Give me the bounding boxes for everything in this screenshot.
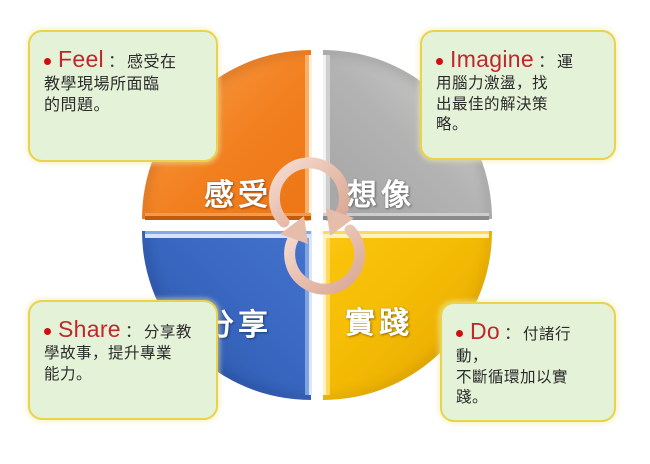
quadrant-label-feel: 感受 [204,170,272,214]
callout-imagine[interactable]: Imagine：運 用腦力激盪，找 出最佳的解決策 略。 [420,30,616,160]
curved-arrow-counterclockwise-icon [280,216,360,289]
callout-imagine-colon: ： [534,52,557,71]
callout-share[interactable]: Share：分享教 學故事，提升專業 能力。 [28,300,218,420]
curved-arrow-clockwise-icon [274,163,354,236]
callout-feel-text-2: 教學現場所面臨 [44,74,202,95]
callout-imagine-text-2: 用腦力激盪，找 [436,74,600,94]
callout-share-line-1: Share：分享教 [44,314,202,344]
callout-share-keyword: Share [58,316,121,342]
callout-feel-colon: ： [104,52,127,71]
callout-do-line-1: Do：付諸行動， [456,316,600,368]
callout-feel-text-3: 的問題。 [44,95,202,116]
callout-share-text-1: 分享教 [144,324,192,341]
callout-feel-text-1: 感受在 [127,54,177,71]
callout-imagine-keyword: Imagine [450,46,534,72]
callout-do-text-3: 踐。 [456,388,600,408]
bullet-icon [436,58,443,65]
callout-do-keyword: Do [470,318,500,344]
callout-do[interactable]: Do：付諸行動， 不斷循環加以實 踐。 [440,302,616,422]
quadrant-label-imagine: 想像 [347,170,415,214]
bullet-icon [44,328,51,335]
callout-imagine-text-3: 出最佳的解決策 [436,95,600,115]
callout-imagine-text-1: 運 [557,54,574,71]
callout-share-colon: ： [121,322,144,341]
callout-feel[interactable]: Feel：感受在 教學現場所面臨 的問題。 [28,30,218,162]
callout-do-colon: ： [500,324,523,343]
callout-imagine-line-1: Imagine：運 [436,44,600,74]
callout-feel-keyword: Feel [58,46,104,72]
bullet-icon [456,330,463,337]
callout-do-text-2: 不斷循環加以實 [456,368,600,388]
quadrant-label-practice: 實踐 [345,298,413,342]
callout-imagine-text-4: 略。 [436,115,600,135]
callout-feel-line-1: Feel：感受在 [44,44,202,74]
diagram-canvas: 感受 想像 分享 實踐 Feel：感受在 教學現場所面臨 的問題。 Imagin… [0,0,650,464]
callout-share-text-2: 學故事，提升專業 [44,344,202,364]
callout-share-text-3: 能力。 [44,365,202,385]
bullet-icon [44,58,51,65]
